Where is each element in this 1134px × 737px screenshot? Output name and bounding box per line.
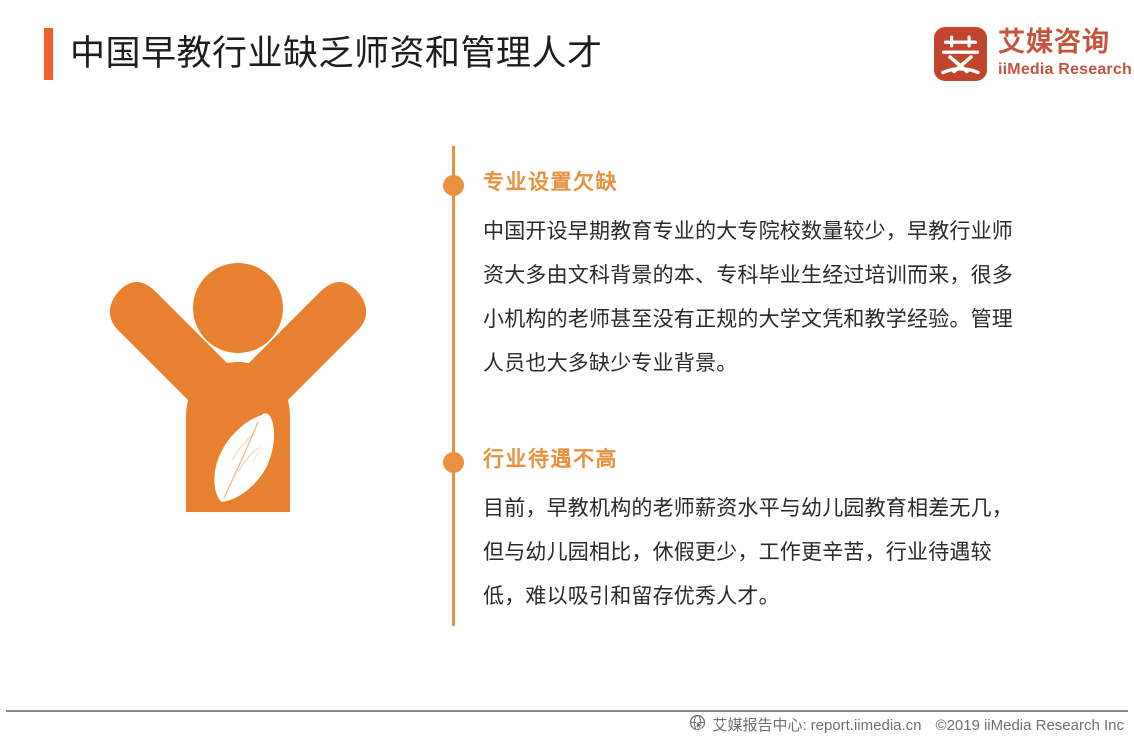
- timeline-vertical-line: [452, 146, 455, 626]
- child-raising-arms-icon: [86, 262, 390, 522]
- brand-logo: 艾媒咨询 iiMedia Research: [934, 26, 1124, 86]
- footer-company: iiMedia Research Inc: [984, 715, 1124, 737]
- block-1-body: 中国开设早期教育专业的大专院校数量较少，早教行业师资大多由文科背景的本、专科毕业…: [483, 210, 1023, 386]
- logo-name-cn: 艾媒咨询: [998, 26, 1110, 59]
- slide-canvas: 中国早教行业缺乏师资和管理人才 艾媒咨询 iiMedia Research: [0, 0, 1134, 737]
- content-block-2: 行业待遇不高 目前，早教机构的老师薪资水平与幼儿园教育相差无几，但与幼儿园相比，…: [483, 445, 1023, 619]
- footer-copyright: ©2019: [936, 715, 980, 737]
- footer-divider: [6, 710, 1128, 712]
- footer-url[interactable]: report.iimedia.cn: [811, 715, 922, 737]
- title-accent-bar: [44, 28, 53, 80]
- iimedia-logo-icon: [934, 27, 987, 81]
- page-title: 中国早教行业缺乏师资和管理人才: [70, 27, 603, 80]
- logo-name-en: iiMedia Research: [998, 60, 1132, 80]
- footer-report-center-label: 艾媒报告中心:: [712, 715, 806, 737]
- footer: 艾媒报告中心: report.iimedia.cn ©2019 iiMedia …: [689, 714, 1124, 737]
- globe-cursor-icon: [689, 714, 706, 737]
- timeline-dot-2: [443, 452, 464, 473]
- block-2-body: 目前，早教机构的老师薪资水平与幼儿园教育相差无几，但与幼儿园相比，休假更少，工作…: [483, 487, 1023, 619]
- block-2-heading: 行业待遇不高: [483, 445, 1023, 475]
- content-block-1: 专业设置欠缺 中国开设早期教育专业的大专院校数量较少，早教行业师资大多由文科背景…: [483, 168, 1023, 386]
- block-1-heading: 专业设置欠缺: [483, 168, 1023, 198]
- timeline-dot-1: [443, 175, 464, 196]
